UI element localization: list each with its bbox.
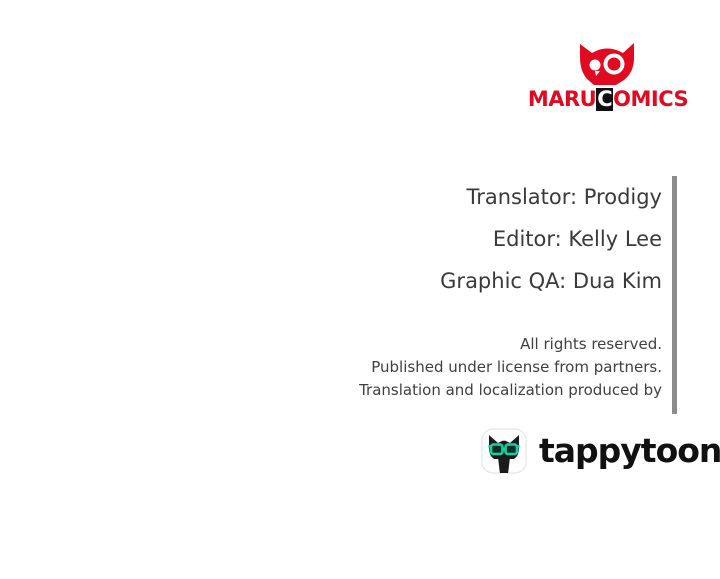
credit-graphic-qa: Graphic QA: Dua Kim (440, 260, 662, 302)
credit-translator: Translator: Prodigy (440, 176, 662, 218)
publisher-wordmark: MARUCOMICS (538, 86, 678, 112)
legal-localization: Translation and localization produced by (359, 379, 662, 402)
tappytoon-wordmark: tappytoon (539, 432, 720, 470)
tappytoon-cat-icon (481, 428, 527, 474)
maru-owl-mark-icon (576, 38, 638, 86)
credits-staff-block: Translator: Prodigy Editor: Kelly Lee Gr… (440, 176, 662, 302)
wordmark-maru: MARU (528, 89, 596, 110)
scrollbar-thumb[interactable] (672, 176, 677, 414)
wordmark-omics: OMICS (613, 89, 688, 110)
legal-license: Published under license from partners. (359, 356, 662, 379)
credits-legal-block: All rights reserved. Published under lic… (359, 333, 662, 402)
publisher-logo: MARUCOMICS (538, 38, 678, 116)
legal-rights-reserved: All rights reserved. (359, 333, 662, 356)
wordmark-c-badge: C (596, 88, 613, 111)
credits-page: MARUCOMICS Translator: Prodigy Editor: K… (0, 0, 720, 579)
tappytoon-logo[interactable]: tappytoon (481, 428, 679, 476)
credit-editor: Editor: Kelly Lee (440, 218, 662, 260)
vertical-scrollbar[interactable] (672, 176, 678, 414)
